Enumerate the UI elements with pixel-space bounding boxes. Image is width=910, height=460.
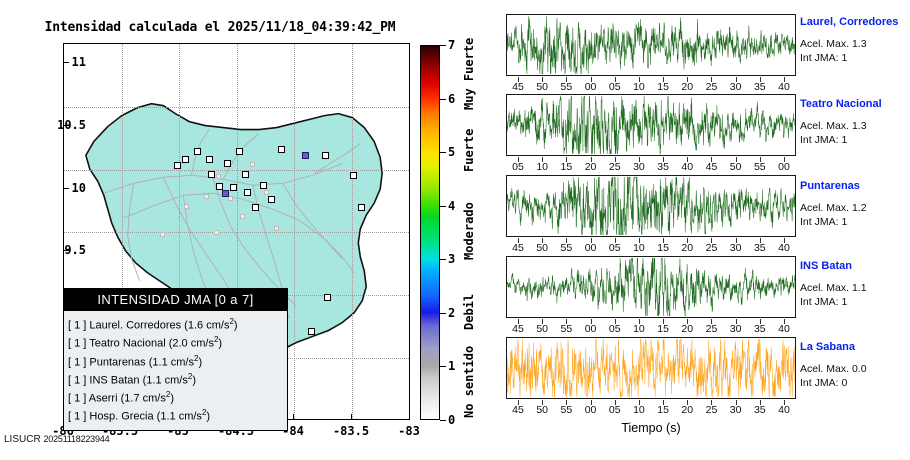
station-marker[interactable] (224, 160, 231, 167)
station-marker[interactable] (322, 152, 329, 159)
station-marker[interactable] (260, 182, 267, 189)
legend-unit: cm/s (165, 374, 188, 386)
graticule-line (64, 107, 409, 108)
time-tick-label: 00 (579, 81, 603, 93)
legend-unit-exp: 2 (214, 335, 218, 344)
legend-accel: 1.1 (146, 374, 161, 386)
time-tick-label: 50 (530, 404, 554, 416)
intensity-colorbar (420, 45, 440, 420)
station-marker[interactable] (208, 171, 215, 178)
time-tick-label: 00 (772, 161, 796, 173)
time-tick-label: 35 (651, 161, 675, 173)
time-tick-label: 45 (506, 242, 530, 254)
x-tick-mark (293, 414, 294, 420)
station-name: Teatro Nacional (800, 98, 908, 111)
time-tick-label: 00 (579, 323, 603, 335)
legend-unit: cm/s (206, 320, 229, 332)
colorbar-label: 2 (448, 306, 462, 320)
station-marker[interactable] (324, 294, 331, 301)
time-tick-label: 45 (506, 323, 530, 335)
legend-entry: [ 1 ] INS Batan (1.1 cm/s2) (68, 370, 287, 388)
time-tick-label: 00 (579, 404, 603, 416)
colorbar-label: 6 (448, 92, 462, 106)
colorbar-tick (440, 99, 446, 100)
legend-station: Aserri (89, 393, 118, 405)
time-tick-label: 20 (675, 242, 699, 254)
time-tick-label: 45 (506, 81, 530, 93)
footer-id: 20251118223944 (43, 434, 109, 444)
time-tick-label: 15 (651, 81, 675, 93)
y-tick-label: 10.5 (26, 118, 86, 132)
station-marker[interactable] (174, 162, 181, 169)
time-tick-label: 55 (554, 81, 578, 93)
station-jma: Int JMA: 1 (800, 295, 908, 309)
accel-value: 1.3 (852, 38, 867, 50)
legend-level: [ 1 ] (68, 393, 86, 405)
legend-station: Hosp. Grecia (89, 411, 153, 423)
footer: LISUCR 20251118223944 (4, 434, 109, 445)
station-jma: Int JMA: 1 (800, 51, 908, 65)
colorbar-tick (440, 259, 446, 260)
time-tick-label: 40 (772, 242, 796, 254)
colorbar-label: 4 (448, 199, 462, 213)
legend-unit-exp: 2 (188, 372, 192, 381)
station-marker[interactable] (268, 196, 275, 203)
jma-value: 1 (841, 52, 847, 64)
colorbar-label: 3 (448, 252, 462, 266)
time-tick-label: 35 (748, 323, 772, 335)
station-marker[interactable] (350, 172, 357, 179)
time-tick-label: 40 (772, 323, 796, 335)
y-tick-label: 11 (26, 55, 86, 69)
time-tick-label: 20 (675, 323, 699, 335)
colorbar-tick (440, 152, 446, 153)
time-tick-label: 40 (772, 404, 796, 416)
legend-station: Puntarenas (89, 356, 145, 368)
station-marker[interactable] (242, 171, 249, 178)
legend-level: [ 1 ] (68, 320, 86, 332)
legend-unit: cm/s (171, 356, 194, 368)
station-info: La Sabana Acel. Max. 0.0 Int JMA: 0 (800, 341, 908, 390)
jma-label: Int JMA: (800, 216, 839, 228)
time-tick-label: 30 (724, 404, 748, 416)
legend-entry: [ 1 ] Hosp. Grecia (1.1 cm/s2) (68, 406, 287, 424)
time-tick-label: 45 (699, 161, 723, 173)
legend-station: Laurel. Corredores (89, 320, 181, 332)
graticule-line (64, 170, 409, 171)
x-tick-label: -83 (374, 424, 444, 438)
station-marker[interactable] (216, 174, 221, 179)
station-accel: Acel. Max. 1.3 (800, 37, 908, 51)
time-axis: 455055000510152025303540 (506, 400, 796, 416)
time-tick-label: 30 (724, 81, 748, 93)
legend-accel: 1.7 (124, 393, 139, 405)
time-tick-label: 55 (554, 242, 578, 254)
legend-accel: 1.6 (188, 320, 203, 332)
jma-label: Int JMA: (800, 134, 839, 146)
station-marker[interactable] (194, 148, 201, 155)
station-name: Puntarenas (800, 180, 908, 193)
jma-label: Int JMA: (800, 52, 839, 64)
legend-unit: cm/s (191, 338, 214, 350)
colorbar-category: Muy Fuerte (462, 38, 476, 110)
time-tick-label: 05 (603, 81, 627, 93)
legend-entry: [ 1 ] Aserri (1.7 cm/s2) (68, 388, 287, 406)
station-marker-active[interactable] (222, 190, 229, 197)
legend-unit: cm/s (143, 393, 166, 405)
time-tick-label: 25 (603, 161, 627, 173)
trace-block: 455055000510152025303540 (506, 14, 796, 93)
station-jma: Int JMA: 1 (800, 133, 908, 147)
time-tick-label: 15 (554, 161, 578, 173)
station-marker[interactable] (204, 194, 209, 199)
map-title: Intensidad calculada el 2025/11/18_04:39… (0, 20, 440, 35)
time-tick-label: 15 (651, 404, 675, 416)
time-tick-label: 40 (675, 161, 699, 173)
station-name: La Sabana (800, 341, 908, 354)
colorbar-label: 7 (448, 38, 462, 52)
y-tick-label: 10 (26, 181, 86, 195)
time-tick-label: 00 (579, 242, 603, 254)
legend-station: INS Batan (89, 374, 139, 386)
accel-label: Acel. Max. (800, 38, 849, 50)
jma-label: Int JMA: (800, 377, 839, 389)
legend-entry: [ 1 ] Puntarenas (1.1 cm/s2) (68, 352, 287, 370)
time-tick-label: 10 (627, 404, 651, 416)
legend-accel: 1.1 (160, 411, 175, 423)
legend-unit-exp: 2 (194, 354, 198, 363)
time-tick-label: 55 (554, 323, 578, 335)
station-marker[interactable] (278, 146, 285, 153)
time-tick-label: 50 (530, 323, 554, 335)
station-marker[interactable] (230, 184, 237, 191)
colorbar-label: 0 (448, 413, 462, 427)
accel-value: 0.0 (852, 363, 867, 375)
legend-entry: [ 1 ] Laurel. Corredores (1.6 cm/s2) (68, 315, 287, 333)
jma-value: 1 (841, 134, 847, 146)
station-marker[interactable] (308, 328, 315, 335)
time-tick-label: 35 (748, 242, 772, 254)
time-tick-label: 30 (627, 161, 651, 173)
colorbar-tick (440, 366, 446, 367)
accel-value: 1.2 (852, 202, 867, 214)
waveform-plot[interactable] (506, 256, 796, 318)
station-marker[interactable] (240, 214, 245, 219)
station-info: Puntarenas Acel. Max. 1.2 Int JMA: 1 (800, 180, 908, 229)
station-marker[interactable] (274, 226, 279, 231)
legend-level: [ 1 ] (68, 374, 86, 386)
y-tick-label: 9.5 (26, 243, 86, 257)
station-marker[interactable] (358, 204, 365, 211)
station-accel: Acel. Max. 0.0 (800, 362, 908, 376)
legend-unit: cm/s (179, 411, 202, 423)
colorbar-category: Debil (462, 294, 476, 330)
footer-org: LISUCR (4, 434, 41, 445)
time-axis: 051015202530354045505500 (506, 157, 796, 173)
legend-entry: [ 1 ] Teatro Nacional (2.0 cm/s2) (68, 333, 287, 351)
station-accel: Acel. Max. 1.3 (800, 119, 908, 133)
legend-unit-exp: 2 (229, 317, 233, 326)
colorbar-label: 1 (448, 359, 462, 373)
waveform-panel: 455055000510152025303540 Laurel, Corredo… (500, 0, 910, 460)
jma-value: 1 (841, 296, 847, 308)
station-jma: Int JMA: 1 (800, 215, 908, 229)
accel-value: 1.3 (852, 120, 867, 132)
colorbar-tick (440, 313, 446, 314)
station-marker[interactable] (160, 232, 165, 237)
legend-entry-list: [ 1 ] Laurel. Corredores (1.6 cm/s2) [ 1… (64, 311, 287, 430)
waveform-plot[interactable] (506, 175, 796, 237)
legend-title: INTENSIDAD JMA [0 a 7] (64, 289, 287, 311)
time-tick-label: 35 (748, 404, 772, 416)
time-tick-label: 05 (603, 323, 627, 335)
colorbar-tick (440, 45, 446, 46)
time-tick-label: 40 (772, 81, 796, 93)
station-marker[interactable] (252, 204, 259, 211)
station-marker[interactable] (184, 204, 189, 209)
station-marker[interactable] (250, 162, 255, 167)
time-tick-label: 25 (699, 242, 723, 254)
accel-label: Acel. Max. (800, 120, 849, 132)
time-tick-label: 50 (530, 242, 554, 254)
intensity-legend: INTENSIDAD JMA [0 a 7] [ 1 ] Laurel. Cor… (63, 288, 288, 431)
waveform-plot[interactable] (506, 14, 796, 76)
time-tick-label: 20 (675, 81, 699, 93)
legend-accel: 2.0 (172, 338, 187, 350)
trace-block: 455055000510152025303540 (506, 256, 796, 335)
time-tick-label: 20 (579, 161, 603, 173)
time-tick-label: 05 (603, 404, 627, 416)
jma-label: Int JMA: (800, 296, 839, 308)
legend-level: [ 1 ] (68, 338, 86, 350)
colorbar-tick (440, 420, 446, 421)
station-marker[interactable] (214, 230, 219, 235)
station-marker[interactable] (206, 156, 213, 163)
time-axis: 455055000510152025303540 (506, 238, 796, 254)
time-tick-label: 05 (506, 161, 530, 173)
legend-station: Teatro Nacional (89, 338, 165, 350)
accel-label: Acel. Max. (800, 282, 849, 294)
station-jma: Int JMA: 0 (800, 376, 908, 390)
legend-level: [ 1 ] (68, 356, 86, 368)
x-axis-label: Tiempo (s) (506, 421, 796, 435)
accel-label: Acel. Max. (800, 202, 849, 214)
colorbar-label: 5 (448, 145, 462, 159)
time-tick-label: 10 (627, 81, 651, 93)
time-tick-label: 45 (506, 404, 530, 416)
station-info: Laurel, Corredores Acel. Max. 1.3 Int JM… (800, 16, 908, 65)
time-tick-label: 10 (627, 242, 651, 254)
station-marker[interactable] (264, 190, 269, 195)
time-tick-label: 25 (699, 323, 723, 335)
time-tick-label: 50 (530, 81, 554, 93)
time-tick-label: 20 (675, 404, 699, 416)
station-marker[interactable] (236, 148, 243, 155)
station-marker-active[interactable] (302, 152, 309, 159)
time-tick-label: 25 (699, 404, 723, 416)
time-tick-label: 15 (651, 242, 675, 254)
trace-block: 455055000510152025303540 (506, 175, 796, 254)
legend-unit-exp: 2 (166, 390, 170, 399)
time-axis: 455055000510152025303540 (506, 319, 796, 335)
jma-value: 0 (841, 377, 847, 389)
time-tick-label: 05 (603, 242, 627, 254)
time-tick-label: 10 (627, 323, 651, 335)
station-marker[interactable] (182, 156, 189, 163)
colorbar-category: Moderado (462, 202, 476, 260)
time-tick-label: 10 (530, 161, 554, 173)
time-tick-label: 30 (724, 242, 748, 254)
trace-block: 051015202530354045505500 (506, 94, 796, 173)
station-marker[interactable] (244, 189, 251, 196)
station-name: INS Batan (800, 260, 908, 273)
time-axis: 455055000510152025303540 (506, 77, 796, 93)
time-tick-label: 50 (724, 161, 748, 173)
waveform-plot[interactable] (506, 94, 796, 156)
time-tick-label: 35 (748, 81, 772, 93)
station-name: Laurel, Corredores (800, 16, 908, 29)
map-panel: Intensidad calculada el 2025/11/18_04:39… (0, 0, 500, 460)
trace-block: 455055000510152025303540 (506, 337, 796, 416)
legend-level: [ 1 ] (68, 411, 86, 423)
time-tick-label: 30 (724, 323, 748, 335)
graticule-line (64, 232, 409, 233)
station-accel: Acel. Max. 1.1 (800, 281, 908, 295)
time-tick-label: 15 (651, 323, 675, 335)
time-tick-label: 55 (554, 404, 578, 416)
accel-value: 1.1 (852, 282, 867, 294)
station-marker[interactable] (216, 183, 223, 190)
station-info: Teatro Nacional Acel. Max. 1.3 Int JMA: … (800, 98, 908, 147)
legend-accel: 1.1 (152, 356, 167, 368)
colorbar-category: No sentido (462, 346, 476, 418)
waveform-plot[interactable] (506, 337, 796, 399)
colorbar-tick (440, 206, 446, 207)
legend-unit-exp: 2 (202, 408, 206, 417)
station-info: INS Batan Acel. Max. 1.1 Int JMA: 1 (800, 260, 908, 309)
x-tick-mark (351, 414, 352, 420)
time-tick-label: 25 (699, 81, 723, 93)
colorbar-category: Fuerte (462, 129, 476, 172)
jma-value: 1 (841, 216, 847, 228)
station-accel: Acel. Max. 1.2 (800, 201, 908, 215)
time-tick-label: 55 (748, 161, 772, 173)
accel-label: Acel. Max. (800, 363, 849, 375)
